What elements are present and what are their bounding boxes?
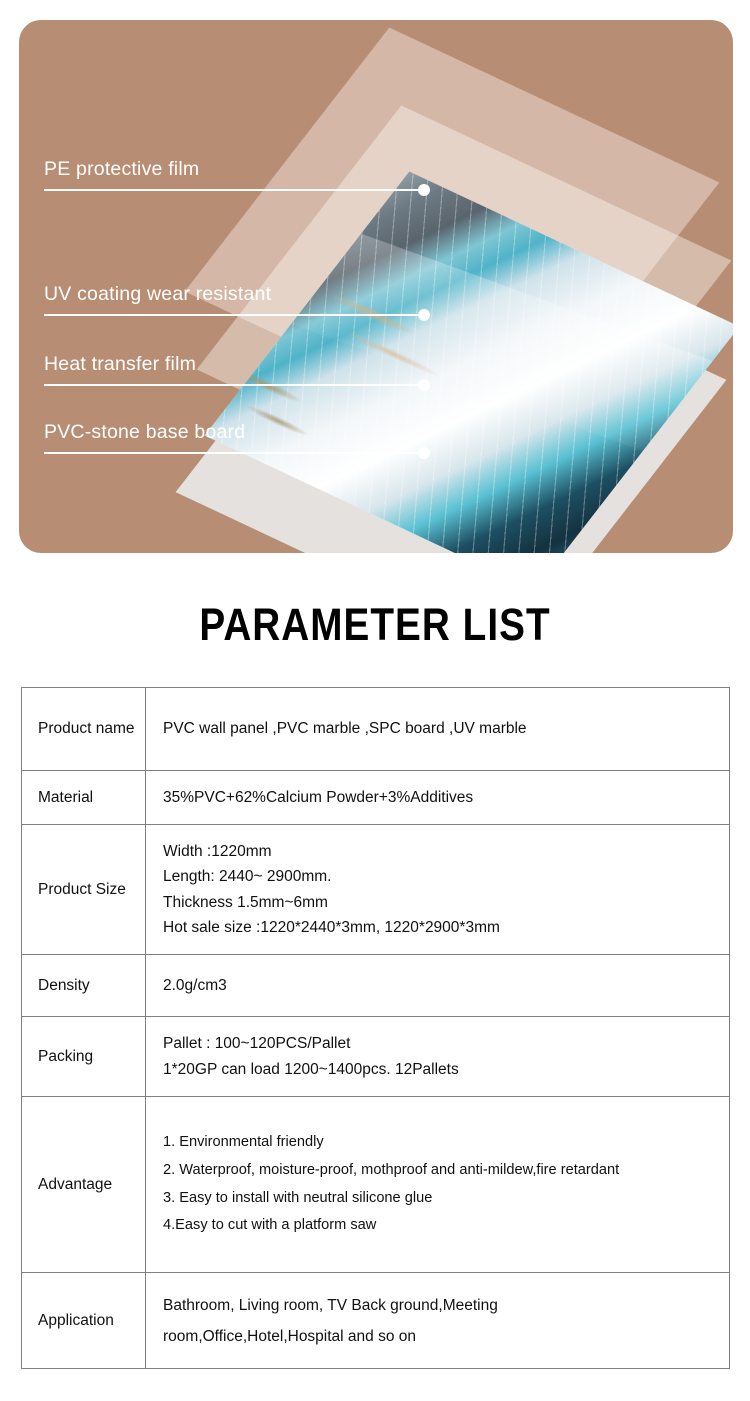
- row-key: Application: [22, 1273, 146, 1369]
- row-key: Product name: [22, 688, 146, 771]
- row-value-line: PVC wall panel ,PVC marble ,SPC board ,U…: [163, 716, 719, 741]
- row-key-line: Application: [38, 1312, 114, 1329]
- leader-dot-icon: [418, 447, 430, 459]
- row-value-line: Length: 2440~ 2900mm.: [163, 864, 719, 889]
- row-value-line: 3. Easy to install with neutral silicone…: [163, 1187, 719, 1211]
- row-value-line: 4.Easy to cut with a platform saw: [163, 1214, 719, 1238]
- row-value-line: 2. Waterproof, moisture-proof, mothproof…: [163, 1159, 719, 1183]
- row-key-line: name: [96, 720, 135, 737]
- row-value: PVC wall panel ,PVC marble ,SPC board ,U…: [146, 688, 730, 771]
- row-value-line: room,Office,Hotel,Hospital and so on: [163, 1321, 719, 1352]
- leader-line: [44, 384, 424, 386]
- page-title: PARAMETER LIST: [53, 599, 698, 651]
- callout-label: UV coating wear resistant: [44, 283, 271, 306]
- row-value-line: Width :1220mm: [163, 839, 719, 864]
- row-key-line: Product: [38, 720, 91, 737]
- row-value-line: Pallet : 100~120PCS/Pallet: [163, 1031, 719, 1056]
- row-key-line: Density: [38, 977, 90, 994]
- row-value-line: 1*20GP can load 1200~1400pcs. 12Pallets: [163, 1057, 719, 1082]
- leader-line: [44, 189, 424, 191]
- row-value: 35%PVC+62%Calcium Powder+3%Additives: [146, 771, 730, 825]
- row-key: Packing: [22, 1017, 146, 1097]
- table-row: Advantage 1. Environmental friendly 2. W…: [22, 1097, 730, 1273]
- parameter-table: Product name PVC wall panel ,PVC marble …: [21, 687, 730, 1369]
- table-row: Product name PVC wall panel ,PVC marble …: [22, 688, 730, 771]
- leader-dot-icon: [418, 184, 430, 196]
- row-value: Width :1220mm Length: 2440~ 2900mm. Thic…: [146, 825, 730, 955]
- callout-label: PE protective film: [44, 158, 199, 181]
- table-row: Packing Pallet : 100~120PCS/Pallet 1*20G…: [22, 1017, 730, 1097]
- row-value: 2.0g/cm3: [146, 955, 730, 1017]
- product-structure-hero: PE protective film UV coating wear resis…: [19, 20, 733, 553]
- leader-line: [44, 452, 424, 454]
- row-key-line: Material: [38, 789, 93, 806]
- row-key-line: Packing: [38, 1048, 93, 1065]
- table-row: Density 2.0g/cm3: [22, 955, 730, 1017]
- row-value: Bathroom, Living room, TV Back ground,Me…: [146, 1273, 730, 1369]
- row-value-line: 35%PVC+62%Calcium Powder+3%Additives: [163, 785, 719, 810]
- row-value: 1. Environmental friendly 2. Waterproof,…: [146, 1097, 730, 1273]
- row-value-line: Bathroom, Living room, TV Back ground,Me…: [163, 1290, 719, 1321]
- row-key: Product Size: [22, 825, 146, 955]
- callout-label: Heat transfer film: [44, 353, 196, 376]
- row-key: Advantage: [22, 1097, 146, 1273]
- row-key-line: Advantage: [38, 1176, 112, 1193]
- row-key: Material: [22, 771, 146, 825]
- callout-label: PVC-stone base board: [44, 421, 245, 444]
- row-value-line: Hot sale size :1220*2440*3mm, 1220*2900*…: [163, 915, 719, 940]
- table-row: Product Size Width :1220mm Length: 2440~…: [22, 825, 730, 955]
- table-row: Application Bathroom, Living room, TV Ba…: [22, 1273, 730, 1369]
- row-value-line: Thickness 1.5mm~6mm: [163, 890, 719, 915]
- table-row: Material 35%PVC+62%Calcium Powder+3%Addi…: [22, 771, 730, 825]
- row-value: Pallet : 100~120PCS/Pallet 1*20GP can lo…: [146, 1017, 730, 1097]
- leader-dot-icon: [418, 379, 430, 391]
- row-key: Density: [22, 955, 146, 1017]
- row-value-line: 2.0g/cm3: [163, 973, 719, 998]
- row-value-line: 1. Environmental friendly: [163, 1131, 719, 1155]
- row-key-line: Product Size: [38, 881, 126, 898]
- leader-line: [44, 314, 424, 316]
- leader-dot-icon: [418, 309, 430, 321]
